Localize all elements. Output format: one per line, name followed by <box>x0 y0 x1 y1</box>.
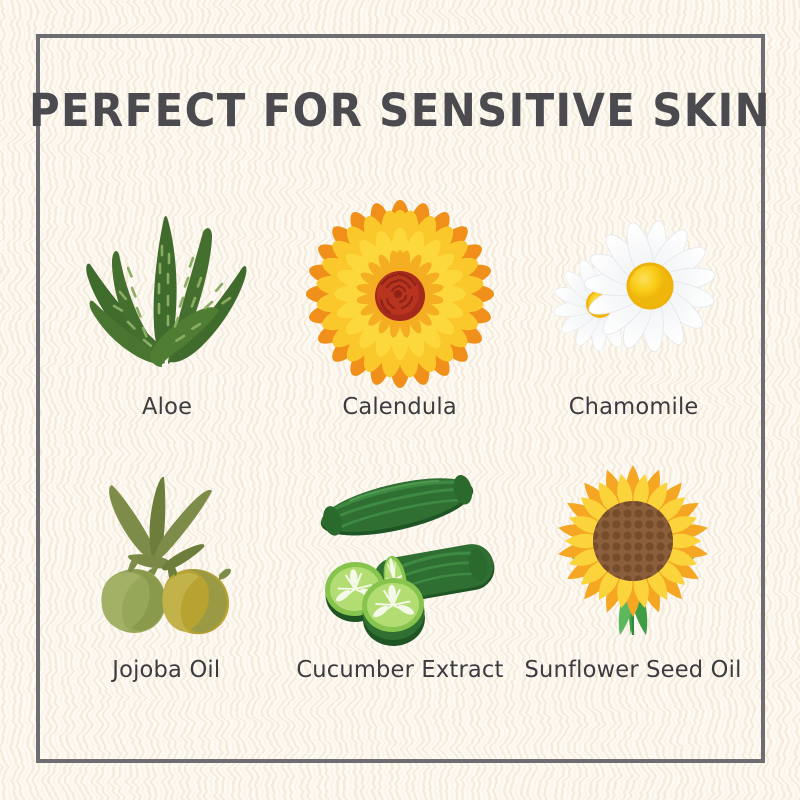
poster: PERFECT FOR SENSITIVE SKIN <box>0 0 800 800</box>
aloe-plant-icon <box>72 206 262 386</box>
ingredient-card-jojoba[interactable]: Jojoba Oil <box>50 458 283 683</box>
ingredient-card-cucumber[interactable]: Cucumber Extract <box>283 458 516 683</box>
calendula-flower-icon <box>305 206 495 386</box>
sunflower-icon <box>538 469 728 649</box>
chamomile-daisy-icon <box>538 206 728 386</box>
ingredient-card-aloe[interactable]: Aloe <box>50 195 283 420</box>
ingredient-card-sunflower[interactable]: Sunflower Seed Oil <box>517 458 750 683</box>
jojoba-seed-icon <box>72 469 262 649</box>
page-title: PERFECT FOR SENSITIVE SKIN <box>28 84 772 137</box>
ingredient-label: Calendula <box>343 392 457 420</box>
ingredient-label: Chamomile <box>568 392 698 420</box>
ingredient-label: Aloe <box>142 392 192 420</box>
ingredient-label: Jojoba Oil <box>113 655 221 683</box>
ingredient-card-calendula[interactable]: Calendula <box>283 195 516 420</box>
ingredient-label: Cucumber Extract <box>296 655 503 683</box>
cucumber-icon <box>305 469 495 649</box>
ingredient-label: Sunflower Seed Oil <box>525 655 742 683</box>
ingredient-card-chamomile[interactable]: Chamomile <box>517 195 750 420</box>
ingredient-grid: Aloe <box>50 195 750 683</box>
